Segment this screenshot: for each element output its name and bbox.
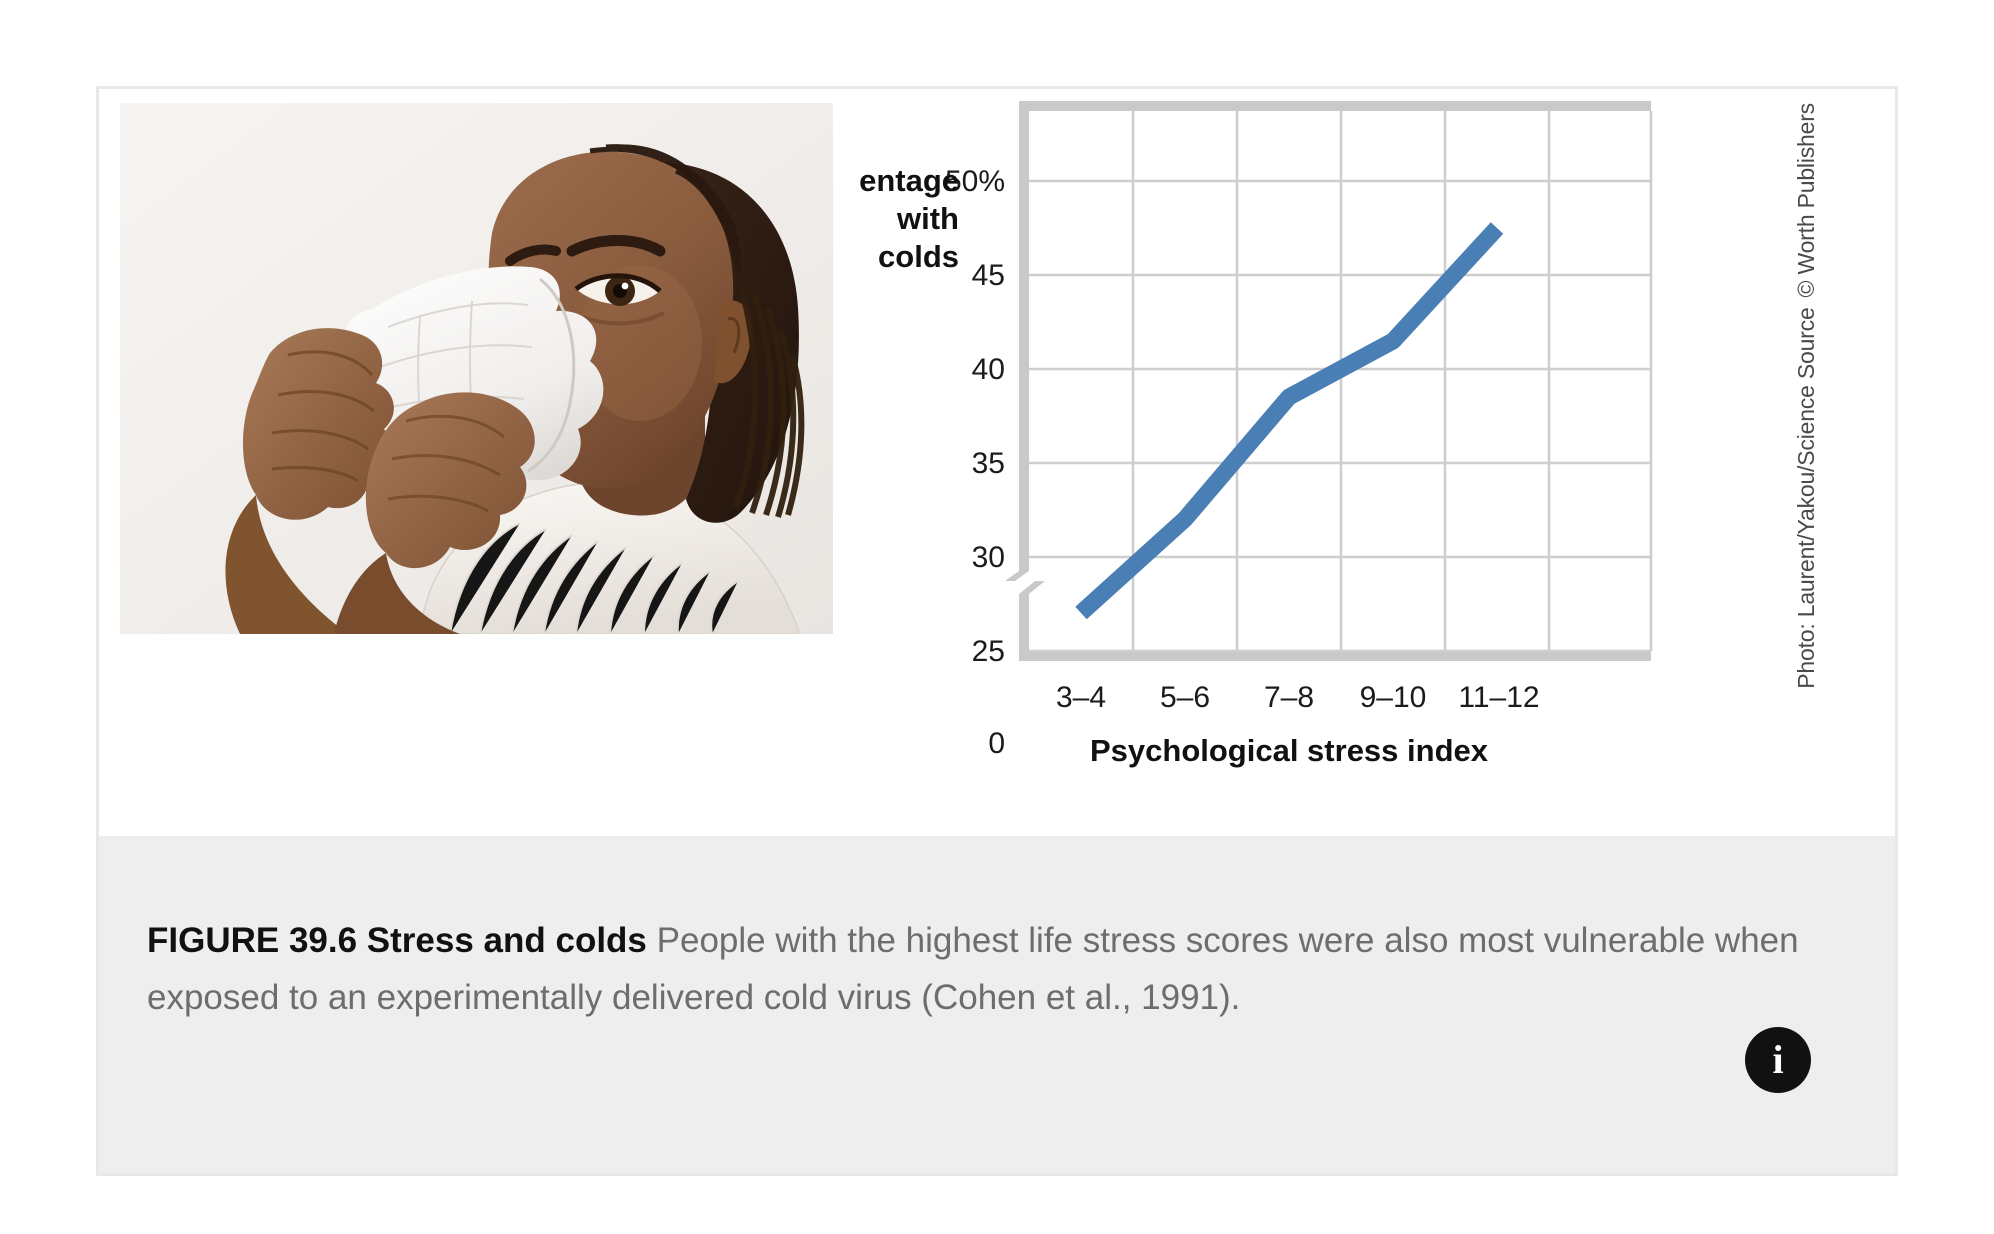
chart-top-border (1019, 101, 1651, 111)
chart-vertical-gridlines (1133, 111, 1549, 651)
x-tick-label: 5–6 (1160, 681, 1210, 714)
y-tick-label: 35 (972, 447, 1005, 480)
chart-stress-and-colds: 50% 45 40 35 30 25 0 Percentage with col… (859, 89, 1789, 840)
y-axis-title-line: Percentage (859, 163, 959, 198)
y-tick-label: 30 (972, 541, 1005, 574)
figure-caption-lead: FIGURE 39.6 Stress and colds (147, 921, 647, 960)
figure-media-area: 50% 45 40 35 30 25 0 Percentage with col… (99, 89, 1895, 840)
photo-credit: Photo: Laurent/Yakou/Science Source © Wo… (1793, 89, 1889, 840)
y-axis-title-line: with (896, 201, 959, 236)
y-tick-label: 0 (988, 727, 1005, 760)
photo-illustration (120, 103, 833, 634)
x-tick-label: 9–10 (1360, 681, 1427, 714)
photo-credit-publisher: © Worth Publishers (1793, 103, 1820, 297)
figure-card: 50% 45 40 35 30 25 0 Percentage with col… (96, 86, 1898, 1176)
photo-credit-source: Photo: Laurent/Yakou/Science Source (1793, 307, 1820, 688)
y-tick-label: 40 (972, 353, 1005, 386)
x-tick-label: 11–12 (1458, 681, 1539, 714)
y-tick-label: 45 (972, 259, 1005, 292)
x-tick-label: 7–8 (1264, 681, 1314, 714)
x-axis-title: Psychological stress index (1090, 733, 1489, 768)
photo-credit-rotated: Photo: Laurent/Yakou/Science Source © Wo… (1793, 89, 1889, 840)
chart-svg: 50% 45 40 35 30 25 0 Percentage with col… (859, 89, 1789, 840)
figure-caption-band: FIGURE 39.6 Stress and colds People with… (99, 836, 1895, 1173)
photo-woman-blowing-nose (120, 103, 833, 634)
y-axis-title-line: colds (878, 239, 959, 274)
figure-caption: FIGURE 39.6 Stress and colds People with… (147, 913, 1835, 1026)
chart-left-spine (1019, 101, 1029, 546)
chart-y-axis-title: Percentage with colds (859, 163, 959, 274)
info-icon[interactable]: i (1745, 1027, 1811, 1093)
chart-x-tick-labels: 3–4 5–6 7–8 9–10 11–12 (1056, 681, 1540, 714)
chart-data-line (1081, 228, 1497, 613)
figure-page: 50% 45 40 35 30 25 0 Percentage with col… (0, 0, 1994, 1234)
x-tick-label: 3–4 (1056, 681, 1106, 714)
info-row: i (1745, 1027, 1811, 1093)
y-tick-label: 25 (972, 635, 1005, 668)
chart-bottom-axis (1019, 651, 1651, 661)
